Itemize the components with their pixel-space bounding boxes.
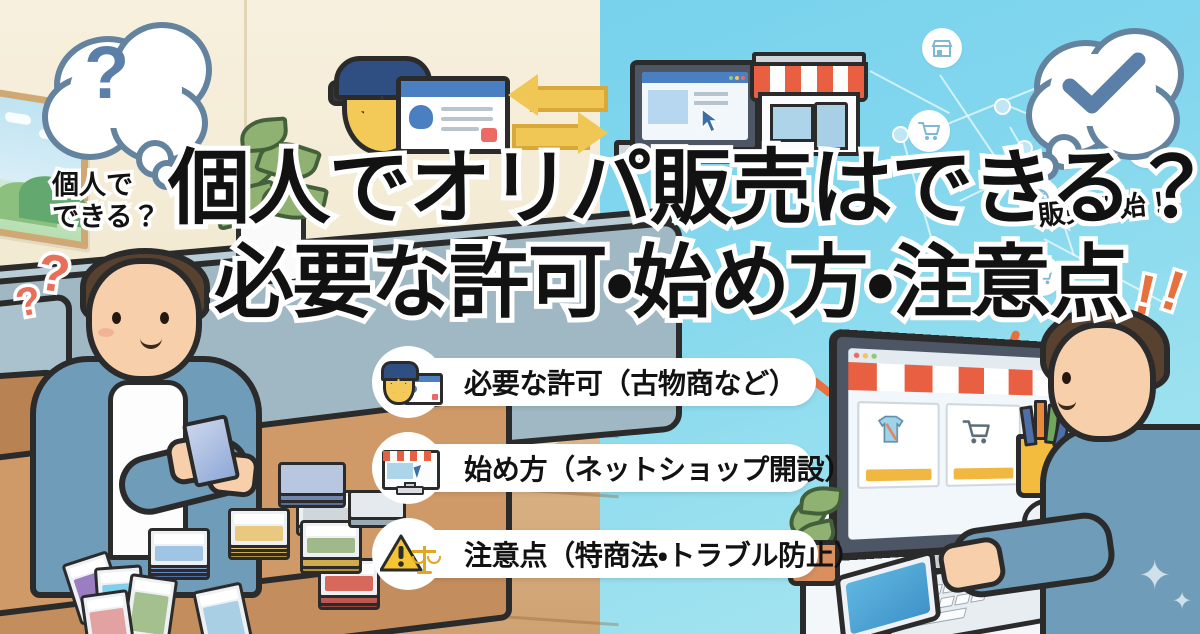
browser-dot xyxy=(871,353,876,359)
id-card-header xyxy=(401,81,505,97)
mini-badge-graphic xyxy=(381,359,435,405)
tshirt-icon xyxy=(873,414,909,446)
id-card-line xyxy=(441,127,479,131)
label-left-line1: 個人で xyxy=(52,170,159,202)
shop-monitor-icon xyxy=(372,432,444,504)
label-left-line2: できる？ xyxy=(52,202,159,234)
laptop-icon xyxy=(630,60,760,152)
bullet-caution-label: 注意点（特商法・トラブル防止） xyxy=(464,534,861,574)
loose-trading-card xyxy=(80,589,136,634)
mini-monitor-graphic xyxy=(382,444,434,492)
shop-node-icon xyxy=(922,28,962,68)
storefront-window xyxy=(770,104,814,142)
scales-foot xyxy=(417,571,432,574)
mini-monitor-screen xyxy=(387,463,413,479)
cursor-icon xyxy=(700,108,722,134)
bullet-caution[interactable]: 注意点（特商法・トラブル防止） xyxy=(384,530,818,578)
keyboard-key xyxy=(938,596,955,609)
id-card-line xyxy=(441,117,493,121)
label-left-can-individual: 個人で できる？ xyxy=(52,170,159,234)
mini-id-stamp xyxy=(432,394,438,400)
banner-root: ? ? xyxy=(0,0,1200,634)
person-left-eye xyxy=(112,312,121,324)
id-card-avatar-icon xyxy=(409,105,433,129)
cart-icon xyxy=(960,418,993,446)
browser-dot xyxy=(854,353,860,359)
scales-beam xyxy=(412,550,436,553)
check-glyph xyxy=(1062,52,1148,118)
sparkle-decor: ✦ xyxy=(1172,590,1192,614)
scales-of-justice-icon xyxy=(412,546,436,574)
laptop-titlebar xyxy=(642,72,748,83)
laptop-screen xyxy=(642,72,748,140)
mini-police-cap xyxy=(381,361,419,381)
laptop-content-line xyxy=(694,101,728,105)
buy-button[interactable] xyxy=(866,469,932,482)
bullet-howto[interactable]: 始め方（ネットショップ開設） xyxy=(384,444,812,492)
scales-pan xyxy=(427,556,441,564)
page-title-line-1: 個人でオリパ販売はできる？ xyxy=(168,148,1200,230)
browser-dot xyxy=(863,353,868,359)
laptop-content-block xyxy=(648,90,688,124)
mini-monitor-base xyxy=(396,486,424,495)
shop-node-glyph xyxy=(931,38,953,58)
id-card-line xyxy=(441,107,493,111)
id-card-stamp xyxy=(481,128,497,142)
bullet-permit-label: 必要な許可（古物商など） xyxy=(464,362,797,402)
person-right-eye xyxy=(1062,372,1071,384)
laptop-content-line xyxy=(694,92,728,96)
cart-node-glyph xyxy=(917,120,941,142)
person-left-cheek xyxy=(98,328,114,337)
sparkle-decor: ✦ xyxy=(1138,556,1172,596)
question-glyph: ? xyxy=(84,36,129,110)
product-card-tshirt[interactable] xyxy=(857,401,939,489)
page-title-line-2: 必要な許可・始め方・注意点 xyxy=(214,243,1128,323)
buy-button[interactable] xyxy=(954,468,1014,480)
mini-warning-graphic xyxy=(380,530,436,578)
product-card-cart[interactable] xyxy=(946,403,1021,487)
warning-scales-icon xyxy=(372,518,444,590)
person-left-eye xyxy=(160,312,169,324)
bullet-permit[interactable]: 必要な許可（古物商など） xyxy=(384,358,816,406)
bullet-howto-label: 始め方（ネットショップ開設） xyxy=(464,448,852,488)
person-left-head xyxy=(86,258,202,382)
network-node xyxy=(994,98,1011,115)
storefront-icon xyxy=(750,52,860,148)
mini-monitor-awning xyxy=(383,451,431,461)
network-node xyxy=(892,126,909,143)
police-badge-id-card-icon xyxy=(372,346,444,418)
